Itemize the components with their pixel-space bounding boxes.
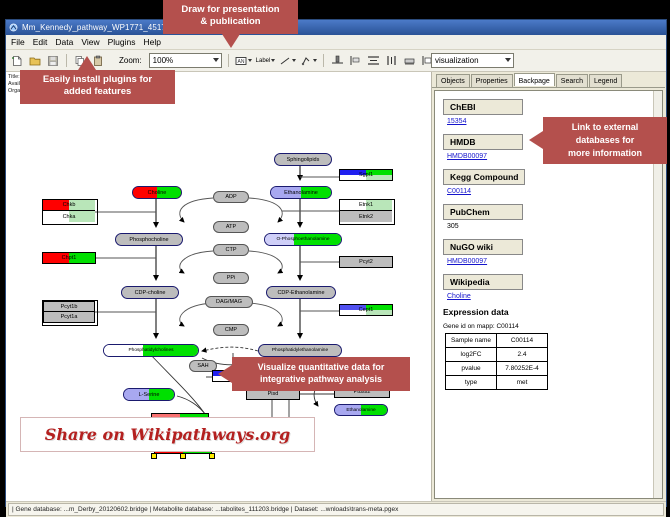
node-dag-mag[interactable]: DAG/MAG: [205, 296, 253, 308]
callout-line-3: Link to external databases for more info…: [568, 122, 642, 158]
node-label: Chkb: [63, 202, 76, 208]
db-link-nugo[interactable]: HMDB00097: [447, 258, 662, 265]
gene-id-line: Gene id on mapp: C00114: [443, 323, 662, 330]
gene-pcyt2[interactable]: Pcyt2: [339, 256, 393, 268]
db-header-kegg: Kegg Compound: [443, 169, 525, 185]
callout-arrow-down-draw: [222, 34, 240, 48]
expr-value-type: met: [497, 376, 548, 390]
gene-cept1[interactable]: Cept1: [339, 304, 393, 316]
db-section-wikipedia: Wikipedia Choline: [443, 272, 662, 300]
node-label: PPi: [227, 275, 236, 281]
resize-handle-sw[interactable]: [151, 453, 157, 459]
toolbar-separator: [66, 54, 67, 67]
node-phosphocholine[interactable]: Phosphocholine: [115, 233, 183, 246]
callout-arrow-up-plugins: [78, 56, 96, 70]
gene-etnk2[interactable]: Etnk2: [340, 211, 392, 222]
node-choline-top[interactable]: Choline: [132, 186, 182, 199]
zoom-select[interactable]: 100%: [149, 53, 222, 68]
chevron-down-icon: [271, 59, 275, 62]
node-ppi[interactable]: PPi: [213, 272, 249, 284]
visualization-value: visualization: [435, 56, 479, 65]
node-label: Pcyt1b: [61, 304, 78, 310]
db-header-nugo: NuGO wiki: [443, 239, 523, 255]
node-label: Phosphatidylethanolamine: [272, 348, 328, 353]
screenshot-root: Mm_Kennedy_pathway_WP1771_45176.gpml Fil…: [0, 0, 670, 509]
node-sphingolipids[interactable]: Sphingolipids: [274, 153, 332, 166]
visualization-select[interactable]: visualization: [431, 53, 514, 68]
node-label: Ethanolamine: [284, 190, 318, 196]
node-label: Etnk2: [359, 214, 373, 220]
label-tool[interactable]: Label: [256, 58, 276, 64]
node-phosphatidylethanolamine[interactable]: Phosphatidylethanolamine: [258, 344, 342, 357]
resize-handle-se[interactable]: [209, 453, 215, 459]
expr-value-log2fc: 2.4: [497, 348, 548, 362]
node-atp[interactable]: ATP: [213, 221, 249, 233]
open-icon[interactable]: [28, 54, 42, 68]
datanode-tool[interactable]: AN: [235, 55, 252, 67]
callout-draw-for-publication: Draw for presentation & publication: [163, 0, 298, 34]
menu-item-edit[interactable]: Edit: [33, 37, 48, 47]
db-link-wikipedia[interactable]: Choline: [447, 293, 662, 300]
node-ethanolamine-right[interactable]: Ethanolamine: [334, 404, 388, 416]
toolbar-separator-3: [323, 54, 324, 67]
toolbar-separator-2: [228, 54, 229, 67]
gene-chka[interactable]: Chka: [43, 211, 95, 222]
expr-value-sample-name: C00114: [497, 334, 548, 348]
align-left-icon[interactable]: [348, 54, 362, 68]
label-tool-text: Label: [256, 58, 271, 64]
tool-bar: Zoom: 100% AN Label: [6, 50, 666, 72]
menu-item-plugins[interactable]: Plugins: [108, 37, 136, 47]
zoom-value: 100%: [153, 56, 173, 65]
node-label: CMP: [225, 327, 237, 333]
table-row: Sample name C00114: [446, 334, 548, 348]
node-cdp-ethanolamine[interactable]: CDP-Ethanolamine: [266, 286, 336, 299]
node-label: O-Phosphoethanolamine: [276, 237, 329, 242]
callout-line-2: Easily install plugins for added feature…: [43, 74, 152, 97]
menu-bar: File Edit Data View Plugins Help: [6, 35, 666, 50]
expr-label-type: type: [446, 376, 497, 390]
node-label: Cept1: [359, 307, 374, 313]
save-icon[interactable]: [46, 54, 60, 68]
node-l-serine-left[interactable]: L-Serine: [123, 388, 175, 401]
node-label: Pcyt2: [359, 259, 373, 265]
gene-etnk1[interactable]: Etnk1: [340, 200, 392, 211]
status-text: | Gene database: ...m_Derby_20120602.bri…: [8, 503, 664, 516]
new-icon[interactable]: [10, 54, 24, 68]
node-cdp-choline[interactable]: CDP-choline: [121, 286, 179, 299]
node-label: Phosphocholine: [129, 237, 168, 243]
tab-backpage[interactable]: Backpage: [514, 73, 555, 86]
node-cmp[interactable]: CMP: [213, 324, 249, 336]
expr-label-sample-name: Sample name: [446, 334, 497, 348]
gene-pcyt1a[interactable]: Pcyt1a: [43, 312, 95, 323]
node-label: ATP: [226, 224, 236, 230]
status-bar: | Gene database: ...m_Derby_20120602.bri…: [6, 501, 666, 517]
line-tool[interactable]: [279, 55, 296, 67]
chevron-down-icon: [292, 59, 296, 62]
callout-arrow-left-links: [529, 131, 543, 149]
node-label: Etnk1: [359, 202, 373, 208]
gene-sgpl1[interactable]: Sgpl1: [339, 169, 393, 181]
node-label: Ethanolamine: [346, 408, 375, 413]
node-label: Chpt1: [62, 255, 77, 261]
node-adp[interactable]: ADP: [213, 191, 249, 203]
db-section-nugo: NuGO wiki HMDB00097: [443, 237, 662, 265]
group-icon[interactable]: [402, 54, 416, 68]
menu-item-file[interactable]: File: [11, 37, 25, 47]
callout-line-4: Visualize quantitative data for integrat…: [258, 362, 385, 384]
align-center-icon[interactable]: [330, 54, 344, 68]
node-ethanolamine-top[interactable]: Ethanolamine: [270, 186, 332, 199]
distribute-horizontal-icon[interactable]: [384, 54, 398, 68]
menu-item-view[interactable]: View: [81, 37, 99, 47]
gene-chkb[interactable]: Chkb: [43, 200, 95, 211]
side-panel-tabs: Objects Properties Backpage Search Legen…: [432, 72, 665, 88]
node-label: Choline: [148, 190, 167, 196]
db-section-pubchem: PubChem 305: [443, 202, 662, 230]
resize-handle-s[interactable]: [180, 453, 186, 459]
expression-table: Sample name C00114 log2FC 2.4 pvalue 7.8…: [445, 333, 548, 390]
chevron-down-icon: [313, 59, 317, 62]
db-link-kegg[interactable]: C00114: [447, 188, 662, 195]
expr-label-pvalue: pvalue: [446, 362, 497, 376]
node-label: L-Serine: [139, 392, 160, 398]
menu-item-help[interactable]: Help: [144, 37, 161, 47]
db-header-chebi: ChEBI: [443, 99, 523, 115]
distribute-vertical-icon[interactable]: [366, 54, 380, 68]
tab-search[interactable]: Search: [556, 74, 588, 87]
callout-arrow-left-visualize: [218, 365, 232, 383]
svg-text:AN: AN: [237, 59, 244, 65]
node-label: Chka: [63, 214, 76, 220]
tab-properties[interactable]: Properties: [471, 74, 513, 87]
menu-item-data[interactable]: Data: [55, 37, 73, 47]
callout-external-links: Link to external databases for more info…: [543, 117, 667, 164]
expr-value-pvalue: 7.80252E-4: [497, 362, 548, 376]
node-o-phosphoethanolamine[interactable]: O-Phosphoethanolamine: [264, 233, 342, 246]
db-value-pubchem: 305: [447, 223, 662, 230]
chevron-down-icon: [248, 59, 252, 62]
gene-group-chk[interactable]: Chkb Chka: [42, 199, 98, 225]
node-label: Phosphatidylcholines: [128, 348, 173, 353]
db-header-wikipedia: Wikipedia: [443, 274, 523, 290]
gene-chpt1[interactable]: Chpt1: [42, 252, 96, 264]
table-row: type met: [446, 376, 548, 390]
node-label: ADP: [225, 194, 236, 200]
share-banner-text: Share on Wikipathways.org: [45, 425, 290, 444]
callout-install-plugins: Easily install plugins for added feature…: [20, 70, 175, 104]
table-row: log2FC 2.4: [446, 348, 548, 362]
node-label: Pisd: [268, 391, 279, 397]
node-label: SAH: [197, 363, 208, 369]
db-header-hmdb: HMDB: [443, 134, 523, 150]
node-label: Sgpl1: [359, 172, 373, 178]
table-row: pvalue 7.80252E-4: [446, 362, 548, 376]
expr-label-log2fc: log2FC: [446, 348, 497, 362]
db-section-kegg: Kegg Compound C00114: [443, 167, 662, 195]
node-label: CDP-Ethanolamine: [277, 290, 324, 296]
node-label: CDP-choline: [135, 290, 166, 296]
tab-objects[interactable]: Objects: [436, 74, 470, 87]
node-ctp[interactable]: CTP: [213, 244, 249, 256]
callout-line-1: Draw for presentation & publication: [181, 4, 279, 27]
node-label: CTP: [226, 247, 237, 253]
chevron-down-icon: [505, 58, 511, 62]
tab-legend[interactable]: Legend: [589, 74, 622, 87]
gene-group-etnk[interactable]: Etnk1 Etnk2: [339, 199, 395, 225]
title-bar: Mm_Kennedy_pathway_WP1771_45176.gpml: [6, 20, 666, 35]
expression-data-heading: Expression data: [443, 307, 662, 317]
gene-pcyt1b[interactable]: Pcyt1b: [43, 301, 95, 312]
node-label: Pcyt1a: [61, 314, 78, 320]
app-icon: [9, 23, 18, 32]
node-label: Sphingolipids: [287, 157, 320, 163]
node-phosphatidylcholines[interactable]: Phosphatidylcholines: [103, 344, 199, 357]
gene-group-pcyt1[interactable]: Pcyt1b Pcyt1a: [42, 300, 98, 326]
share-banner: Share on Wikipathways.org: [20, 417, 315, 452]
node-label: DAG/MAG: [216, 299, 242, 305]
db-header-pubchem: PubChem: [443, 204, 523, 220]
shape-tool[interactable]: [300, 55, 317, 67]
zoom-label: Zoom:: [119, 56, 142, 65]
callout-visualize-data: Visualize quantitative data for integrat…: [232, 357, 410, 391]
chevron-down-icon: [213, 58, 219, 62]
